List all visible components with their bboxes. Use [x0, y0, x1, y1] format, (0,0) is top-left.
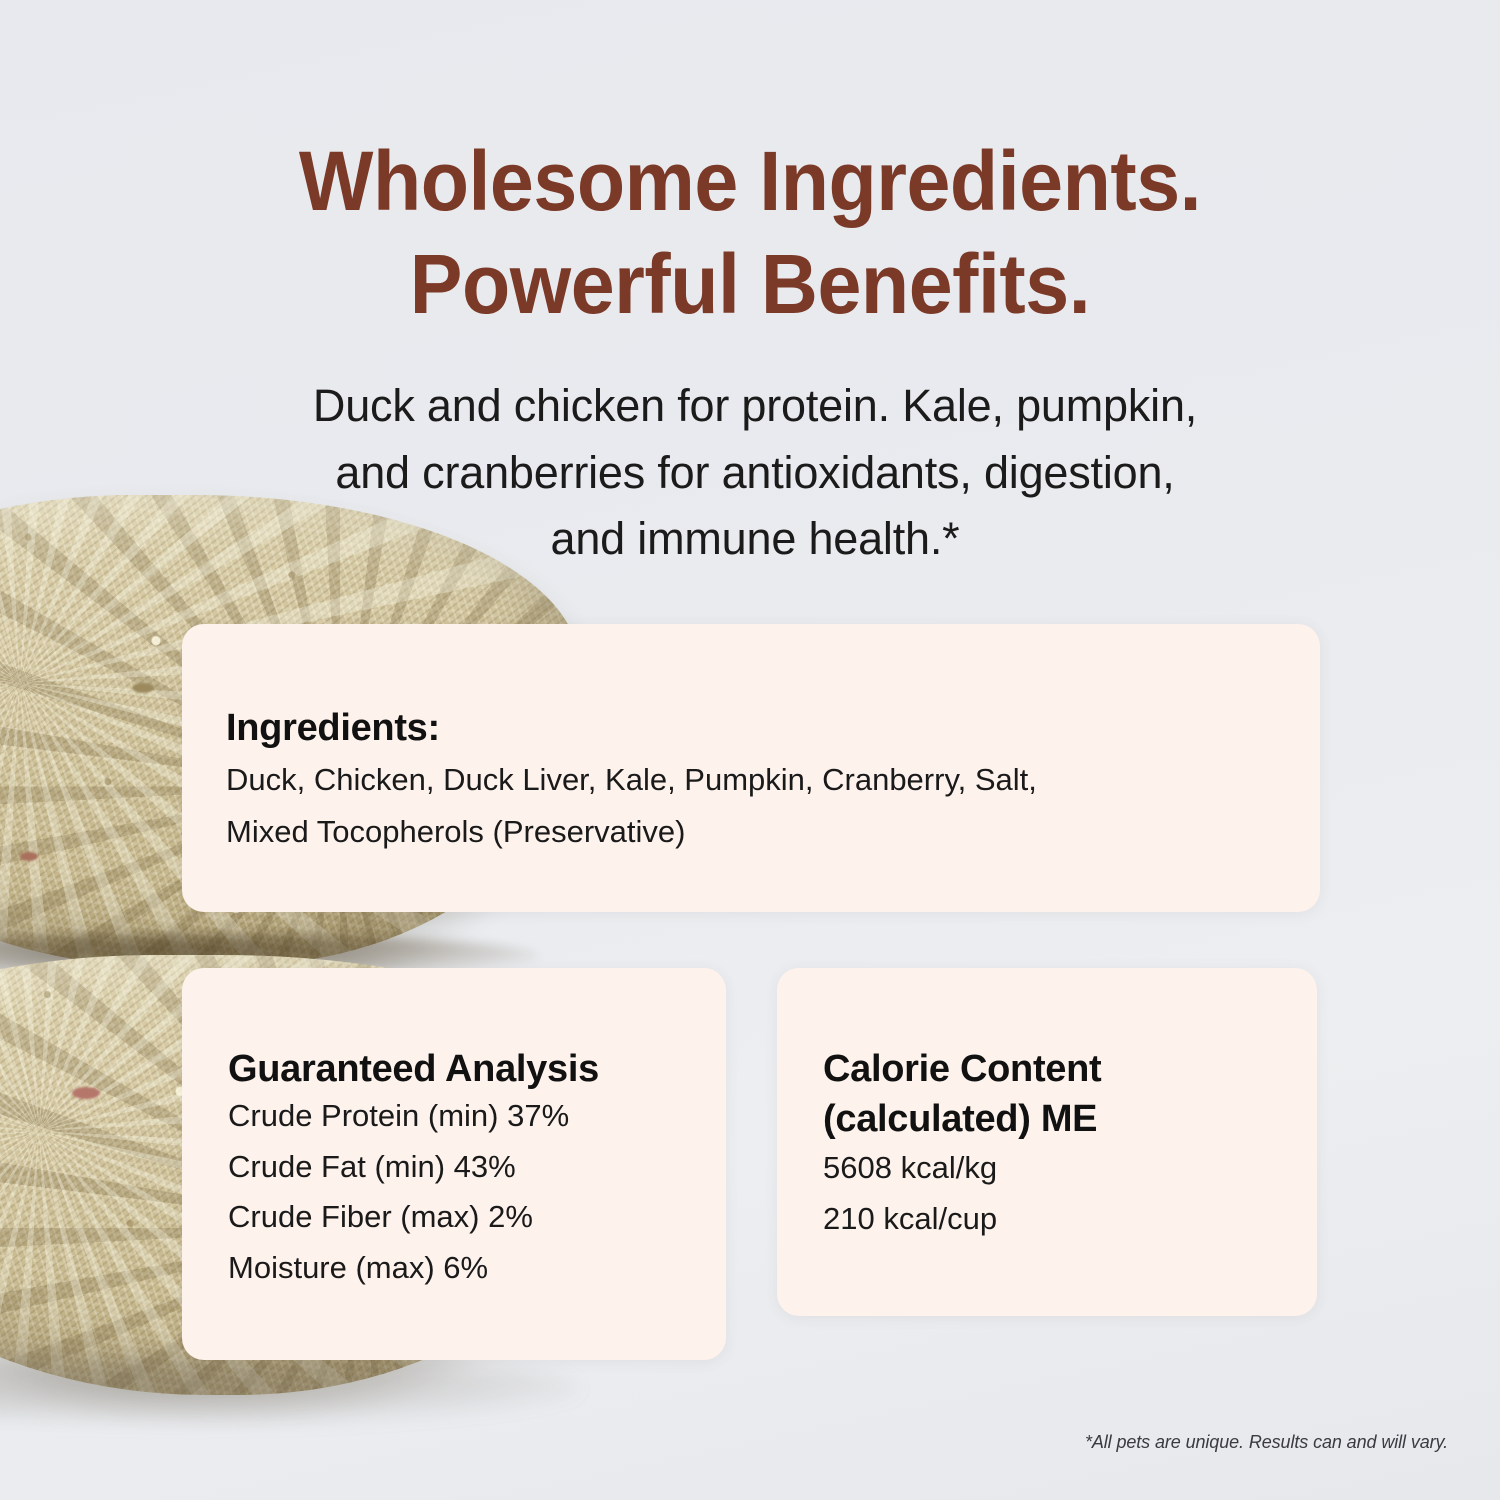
- ingredients-card: Ingredients: Duck, Chicken, Duck Liver, …: [182, 624, 1320, 912]
- guaranteed-analysis-card: Guaranteed Analysis Crude Protein (min) …: [182, 968, 726, 1360]
- disclaimer-footnote: *All pets are unique. Results can and wi…: [1085, 1432, 1448, 1453]
- page-subtitle: Duck and chicken for protein. Kale, pump…: [150, 373, 1360, 573]
- calorie-content-list: 5608 kcal/kg 210 kcal/cup: [823, 1143, 997, 1245]
- ingredients-list: Duck, Chicken, Duck Liver, Kale, Pumpkin…: [226, 754, 1266, 858]
- guaranteed-analysis-card-title: Guaranteed Analysis: [228, 1048, 599, 1091]
- calorie-title-line: (calculated) ME: [823, 1094, 1101, 1144]
- subtitle-line-3: and immune health.*: [150, 506, 1360, 573]
- analysis-row: Crude Fiber (max) 2%: [228, 1192, 569, 1243]
- calorie-row: 5608 kcal/kg: [823, 1143, 997, 1194]
- cranberry-fleck: [72, 1087, 100, 1099]
- cranberry-fleck: [20, 852, 38, 861]
- subtitle-line-1: Duck and chicken for protein. Kale, pump…: [150, 373, 1360, 440]
- calorie-content-card-title: Calorie Content (calculated) ME: [823, 1044, 1101, 1144]
- ingredients-line: Duck, Chicken, Duck Liver, Kale, Pumpkin…: [226, 754, 1266, 806]
- product-detail-panel: Wholesome Ingredients. Powerful Benefits…: [0, 0, 1500, 1500]
- calorie-title-line: Calorie Content: [823, 1044, 1101, 1094]
- headline-line-1: Wholesome Ingredients.: [45, 130, 1455, 232]
- liver-fleck: [132, 683, 154, 693]
- ingredients-card-title: Ingredients:: [226, 707, 440, 750]
- analysis-row: Crude Fat (min) 43%: [228, 1142, 569, 1193]
- photo-contact-shadow: [0, 1353, 580, 1423]
- analysis-row: Moisture (max) 6%: [228, 1243, 569, 1294]
- calorie-row: 210 kcal/cup: [823, 1194, 997, 1245]
- calorie-content-card: Calorie Content (calculated) ME 5608 kca…: [777, 968, 1317, 1316]
- guaranteed-analysis-list: Crude Protein (min) 37% Crude Fat (min) …: [228, 1091, 569, 1293]
- page-title: Wholesome Ingredients. Powerful Benefits…: [45, 130, 1455, 335]
- analysis-row: Crude Protein (min) 37%: [228, 1091, 569, 1142]
- subtitle-line-2: and cranberries for antioxidants, digest…: [150, 440, 1360, 507]
- headline-line-2: Powerful Benefits.: [45, 233, 1455, 335]
- ingredients-line: Mixed Tocopherols (Preservative): [226, 806, 1266, 858]
